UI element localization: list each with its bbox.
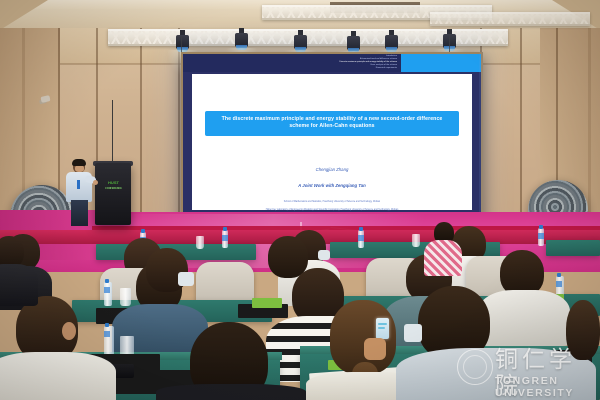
audience-area: [0, 0, 600, 400]
audience-table: [546, 240, 600, 256]
drinking-glass: [120, 288, 131, 306]
water-bottle: [104, 282, 112, 306]
water-bottle: [358, 230, 364, 248]
notepad-green: [252, 298, 282, 308]
water-bottle: [538, 228, 544, 246]
water-bottle: [222, 230, 228, 248]
hand: [364, 338, 386, 360]
drinking-glass: [196, 236, 204, 249]
water-bottle: [104, 326, 114, 356]
smartphone-in-hand: [376, 318, 389, 339]
conference-photo: Introduction A linearized two-level diff…: [0, 0, 600, 400]
drinking-glass: [412, 234, 420, 247]
